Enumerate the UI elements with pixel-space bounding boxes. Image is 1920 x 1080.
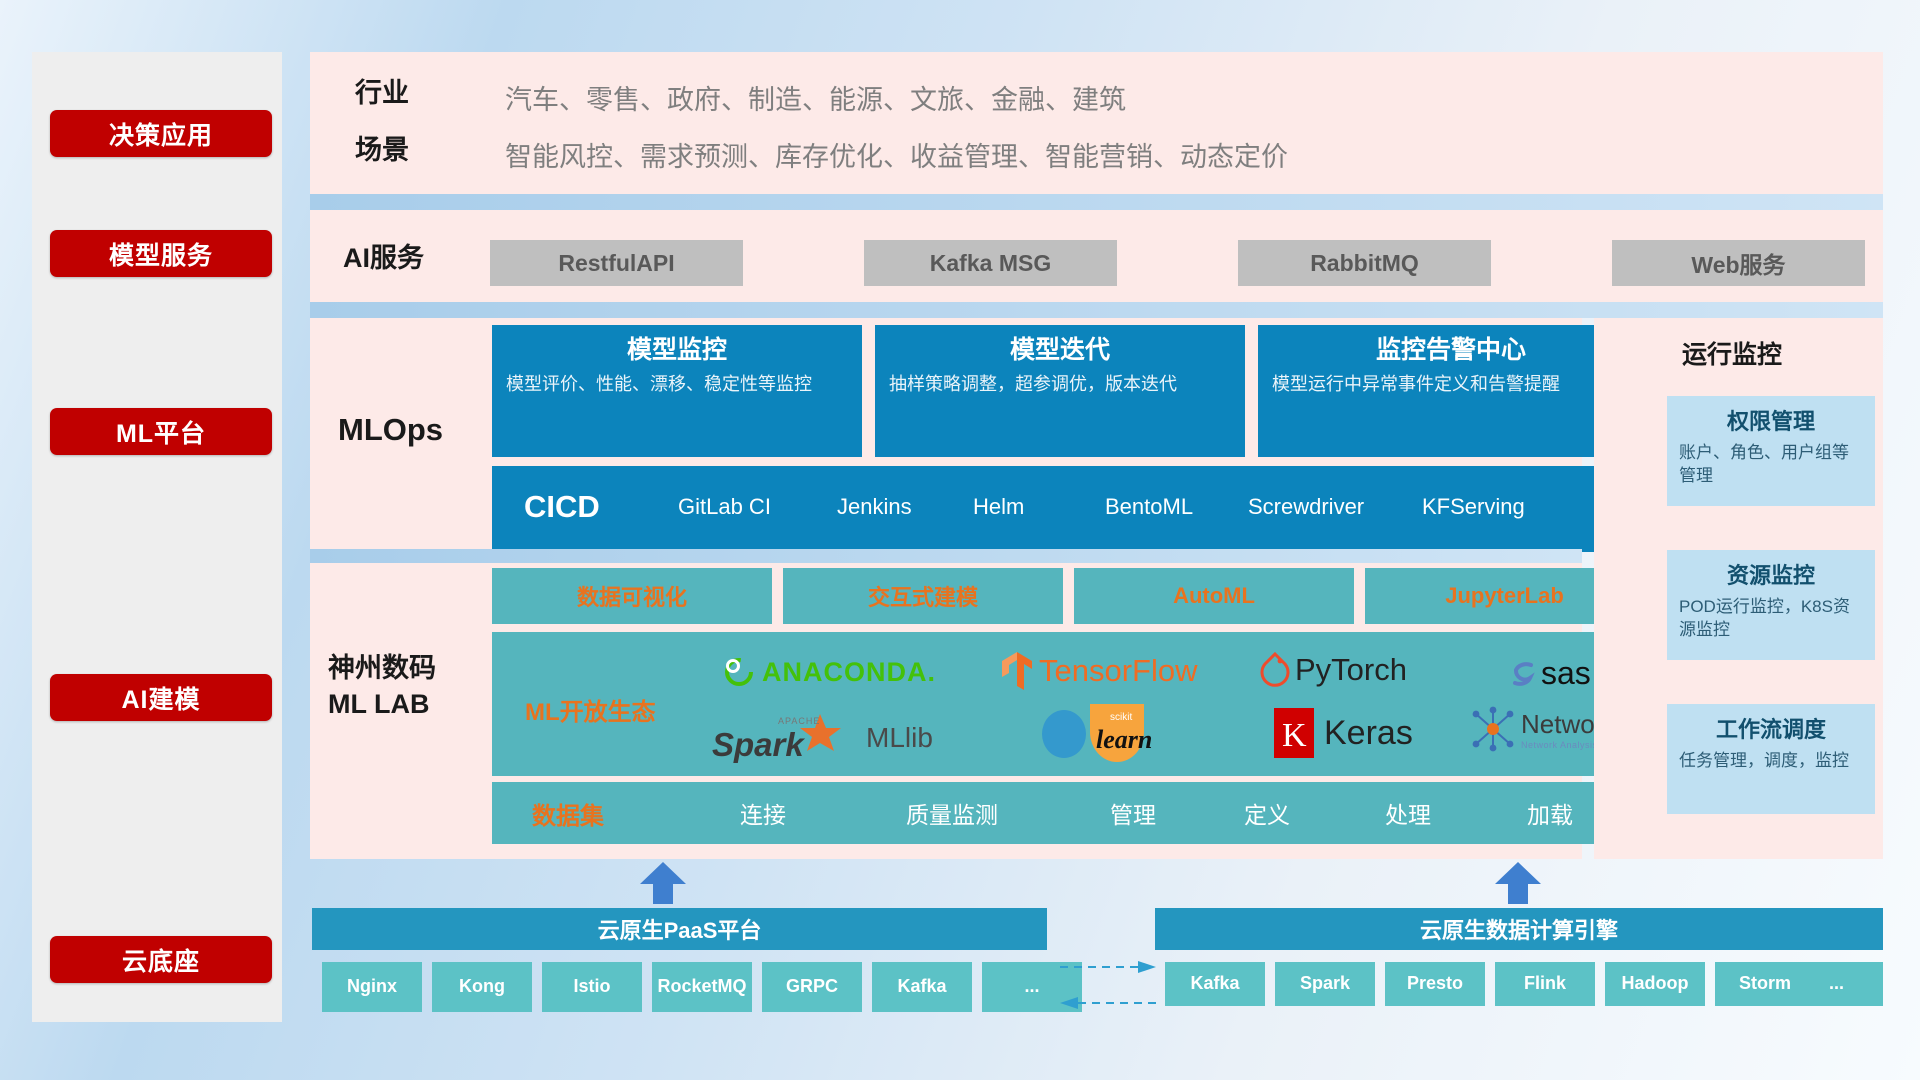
stage-label: 云底座 xyxy=(122,942,200,978)
ml-lab-label-line1: 神州数码 xyxy=(328,650,436,686)
card-title: 模型迭代 xyxy=(889,335,1231,366)
sas-wordmark: sas xyxy=(1541,655,1591,692)
card-desc: 账户、角色、用户组等管理 xyxy=(1679,441,1863,488)
card-title: 监控告警中心 xyxy=(1272,335,1630,366)
tab-label: 数据可视化 xyxy=(577,580,687,612)
stage-ml-platform[interactable]: ML平台 xyxy=(50,408,272,455)
stage-label: 模型服务 xyxy=(109,236,213,272)
scikit-learn-logo: scikit learn xyxy=(1038,700,1168,762)
keras-logo: K Keras xyxy=(1272,706,1413,760)
paas-chip-kong[interactable]: Kong xyxy=(432,962,532,1012)
dataset-item-process[interactable]: 处理 xyxy=(1385,796,1431,830)
cicd-item-bentoml[interactable]: BentoML xyxy=(1105,494,1185,520)
scikit-learn-mark: scikit learn xyxy=(1038,700,1168,762)
architecture-diagram: 决策应用 模型服务 ML平台 AI建模 云底座 行业 汽车、零售、政府、制造、能… xyxy=(0,0,1920,1080)
chip-label: Presto xyxy=(1407,974,1463,994)
scenario-label: 场景 xyxy=(355,135,409,166)
service-chip-kafka-msg[interactable]: Kafka MSG xyxy=(864,240,1117,286)
dataset-item-quality-monitor[interactable]: 质量监测 xyxy=(906,796,998,830)
mlops-card-model-monitoring[interactable]: 模型监控 模型评价、性能、漂移、稳定性等监控 xyxy=(492,325,862,457)
compute-chip-more[interactable]: ... xyxy=(1790,962,1883,1006)
chip-label: RocketMQ xyxy=(657,977,746,997)
mlops-card-model-iteration[interactable]: 模型迭代 抽样策略调整，超参调优，版本迭代 xyxy=(875,325,1245,457)
dataset-label: 数据集 xyxy=(532,796,604,831)
mlops-label: MLOps xyxy=(338,412,443,448)
service-chip-restful-api[interactable]: RestfulAPI xyxy=(490,240,743,286)
tab-automl[interactable]: AutoML xyxy=(1074,568,1354,624)
ml-lab-label: 神州数码 ML LAB xyxy=(328,650,436,723)
anaconda-wordmark: ANACONDA. xyxy=(762,657,936,688)
industry-value: 汽车、零售、政府、制造、能源、文旅、金融、建筑 xyxy=(505,78,1126,117)
chip-label: Spark xyxy=(1300,974,1350,994)
band-separator xyxy=(310,302,1883,318)
stage-ai-modeling[interactable]: AI建模 xyxy=(50,674,272,721)
paas-chip-istio[interactable]: Istio xyxy=(542,962,642,1012)
tensorflow-logo: TensorFlow xyxy=(1000,650,1198,692)
chip-label: ... xyxy=(1829,974,1844,994)
stage-label: AI建模 xyxy=(121,680,200,716)
arrow-up-compute xyxy=(1495,862,1541,904)
keras-mark: K xyxy=(1272,706,1316,760)
card-title: 资源监控 xyxy=(1679,558,1863,590)
cicd-item-kfserving[interactable]: KFServing xyxy=(1422,494,1514,520)
industry-label: 行业 xyxy=(355,78,409,109)
cicd-item-screwdriver[interactable]: Screwdriver xyxy=(1248,494,1344,520)
paas-chip-rocketmq[interactable]: RocketMQ xyxy=(652,962,752,1012)
service-chip-web-service[interactable]: Web服务 xyxy=(1612,240,1865,286)
header-label: 云原生PaaS平台 xyxy=(598,913,762,945)
chip-label: Kafka xyxy=(897,977,946,997)
stage-label: 决策应用 xyxy=(109,116,213,152)
svg-text:Spark: Spark xyxy=(712,726,805,763)
paas-platform-header[interactable]: 云原生PaaS平台 xyxy=(312,908,1047,950)
card-title: 权限管理 xyxy=(1679,404,1863,436)
dataset-item-manage[interactable]: 管理 xyxy=(1110,796,1156,830)
pytorch-mark xyxy=(1260,652,1290,688)
card-desc: 模型运行中异常事件定义和告警提醒 xyxy=(1272,372,1630,398)
svg-text:learn: learn xyxy=(1096,725,1152,754)
arrow-up-paas xyxy=(640,862,686,904)
card-title: 工作流调度 xyxy=(1679,712,1863,744)
paas-chip-nginx[interactable]: Nginx xyxy=(322,962,422,1012)
card-title: 模型监控 xyxy=(506,335,848,366)
stage-cloud-foundation[interactable]: 云底座 xyxy=(50,936,272,983)
chip-label: Kafka xyxy=(1190,974,1239,994)
tab-label: 交互式建模 xyxy=(868,580,978,612)
card-desc: 任务管理，调度，监控 xyxy=(1679,749,1863,772)
tab-label: JupyterLab xyxy=(1445,583,1564,609)
paas-chip-grpc[interactable]: GRPC xyxy=(762,962,862,1012)
monitor-card-permission[interactable]: 权限管理 账户、角色、用户组等管理 xyxy=(1667,396,1875,506)
compute-engine-header[interactable]: 云原生数据计算引擎 xyxy=(1155,908,1883,950)
cloud-link-arrows xyxy=(1060,955,1156,1015)
ml-lab-label-line2: ML LAB xyxy=(328,686,436,722)
card-desc: 模型评价、性能、漂移、稳定性等监控 xyxy=(506,372,848,398)
chip-label: Kong xyxy=(459,977,505,997)
ml-ecosystem-label: ML开放生态 xyxy=(525,692,656,727)
chip-label: Storm xyxy=(1739,974,1791,994)
scenario-value: 智能风控、需求预测、库存优化、收益管理、智能营销、动态定价 xyxy=(505,135,1288,174)
chip-label: Istio xyxy=(573,977,610,997)
tensorflow-mark xyxy=(1000,650,1034,692)
anaconda-mark xyxy=(722,655,756,689)
keras-wordmark: Keras xyxy=(1324,714,1413,753)
monitor-card-workflow[interactable]: 工作流调度 任务管理，调度，监控 xyxy=(1667,704,1875,814)
spark-mark: APACHE Spark xyxy=(712,712,862,764)
chip-label: RabbitMQ xyxy=(1310,250,1419,277)
tab-label: AutoML xyxy=(1173,583,1255,609)
chip-label: Nginx xyxy=(347,977,397,997)
compute-chip-hadoop[interactable]: Hadoop xyxy=(1605,962,1705,1006)
chip-label: GRPC xyxy=(786,977,838,997)
chip-label: Kafka MSG xyxy=(930,250,1051,277)
band-separator xyxy=(310,194,1883,210)
compute-chip-kafka[interactable]: Kafka xyxy=(1165,962,1265,1006)
networkx-mark xyxy=(1470,706,1516,752)
compute-chip-flink[interactable]: Flink xyxy=(1495,962,1595,1006)
svg-text:scikit: scikit xyxy=(1110,712,1132,723)
tensorflow-wordmark: TensorFlow xyxy=(1039,653,1198,689)
stage-label: ML平台 xyxy=(116,414,206,450)
pytorch-logo: PyTorch xyxy=(1260,652,1407,688)
svg-text:APACHE: APACHE xyxy=(778,716,820,726)
spark-mllib-logo: APACHE Spark MLlib xyxy=(712,712,933,764)
card-desc: POD运行监控，K8S资源监控 xyxy=(1679,595,1863,642)
mlops-card-alert-center[interactable]: 监控告警中心 模型运行中异常事件定义和告警提醒 xyxy=(1258,325,1644,457)
compute-chip-presto[interactable]: Presto xyxy=(1385,962,1485,1006)
service-chip-rabbitmq[interactable]: RabbitMQ xyxy=(1238,240,1491,286)
stage-model-service[interactable]: 模型服务 xyxy=(50,230,272,277)
card-desc: 抽样策略调整，超参调优，版本迭代 xyxy=(889,372,1231,398)
mllib-wordmark: MLlib xyxy=(866,722,933,754)
monitor-panel-title: 运行监控 xyxy=(1682,335,1782,371)
monitor-card-resource[interactable]: 资源监控 POD运行监控，K8S资源监控 xyxy=(1667,550,1875,660)
chip-label: ... xyxy=(1024,977,1039,997)
sas-logo: sas xyxy=(1507,655,1591,692)
svg-text:K: K xyxy=(1282,717,1307,754)
cicd-item-jenkins[interactable]: Jenkins xyxy=(837,494,909,520)
chip-label: Web服务 xyxy=(1691,246,1785,280)
tab-data-visualization[interactable]: 数据可视化 xyxy=(492,568,772,624)
chip-label: Flink xyxy=(1524,974,1566,994)
dataset-band: 数据集 连接 质量监测 管理 定义 处理 加载 xyxy=(492,782,1644,844)
cicd-title: CICD xyxy=(524,489,600,525)
stage-rail xyxy=(32,52,282,1022)
compute-chip-spark[interactable]: Spark xyxy=(1275,962,1375,1006)
paas-chip-kafka[interactable]: Kafka xyxy=(872,962,972,1012)
sas-mark xyxy=(1507,658,1539,690)
chip-label: Hadoop xyxy=(1622,974,1689,994)
cicd-item-helm[interactable]: Helm xyxy=(973,494,1035,520)
header-label: 云原生数据计算引擎 xyxy=(1420,913,1618,945)
anaconda-logo: ANACONDA. xyxy=(722,655,936,689)
stage-decision-application[interactable]: 决策应用 xyxy=(50,110,272,157)
pytorch-wordmark: PyTorch xyxy=(1295,652,1407,688)
band-separator xyxy=(310,549,1582,563)
dataset-item-connect[interactable]: 连接 xyxy=(740,796,786,830)
tab-interactive-modeling[interactable]: 交互式建模 xyxy=(783,568,1063,624)
chip-label: RestfulAPI xyxy=(558,250,674,277)
cicd-item-gitlab-ci[interactable]: GitLab CI xyxy=(678,494,788,520)
ai-service-label: AI服务 xyxy=(343,243,424,274)
dataset-item-load[interactable]: 加载 xyxy=(1527,796,1573,830)
dataset-item-define[interactable]: 定义 xyxy=(1244,796,1290,830)
